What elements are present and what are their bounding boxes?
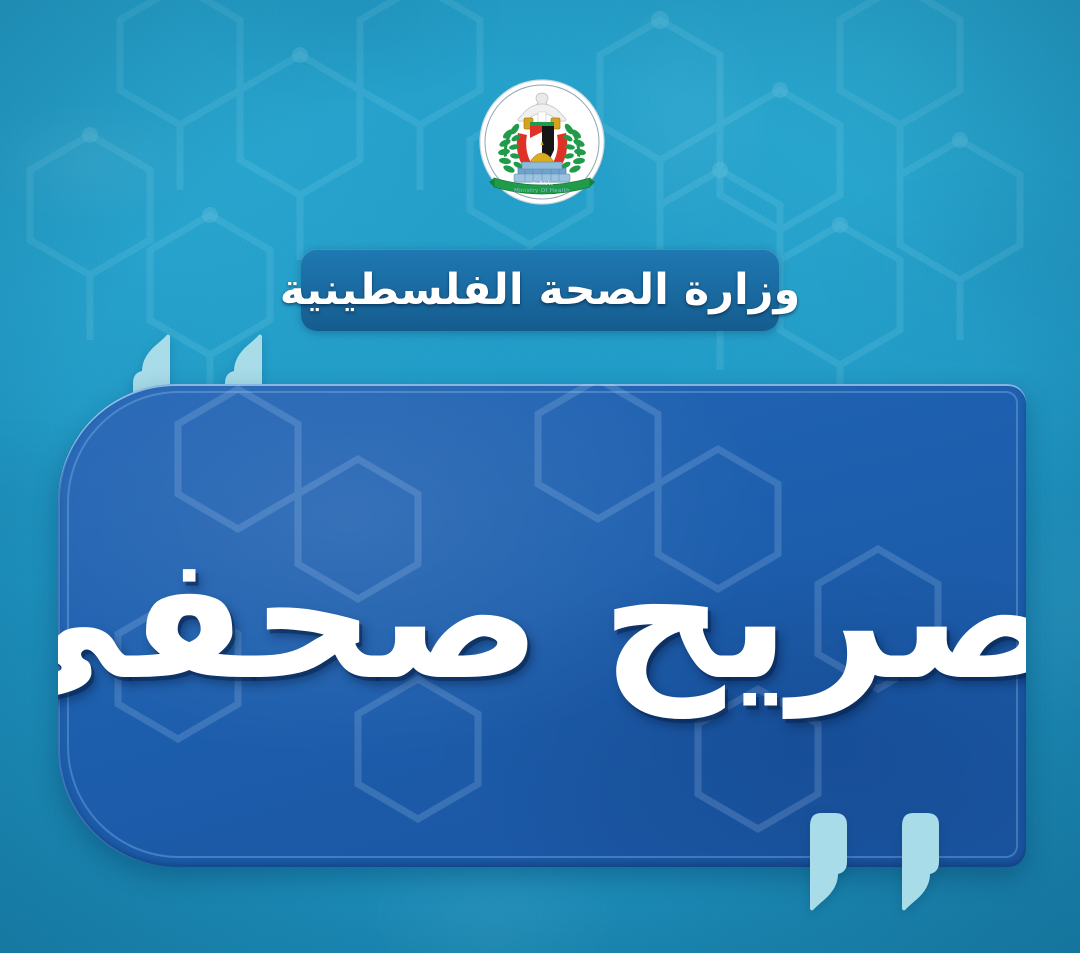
ministry-name-text: وزارة الصحة الفلسطينية [280,269,800,312]
emblem-arabic-caption: وزارة الصحة [531,181,554,186]
ministry-of-health-emblem: شعار وزارة الصحة الفلسطينية [478,78,606,206]
press-statement-poster: شعار وزارة الصحة الفلسطينية [0,0,1080,953]
press-statement-headline: تصريح صحفي [58,532,1026,704]
card-text-wrap: تصريح صحفي [58,384,1026,867]
emblem-english-caption: Ministry Of Health [514,188,570,194]
closing-quotation-mark [782,800,954,918]
statement-card: تصريح صحفي [58,384,1026,867]
ministry-name-plaque: وزارة الصحة الفلسطينية [301,249,779,331]
